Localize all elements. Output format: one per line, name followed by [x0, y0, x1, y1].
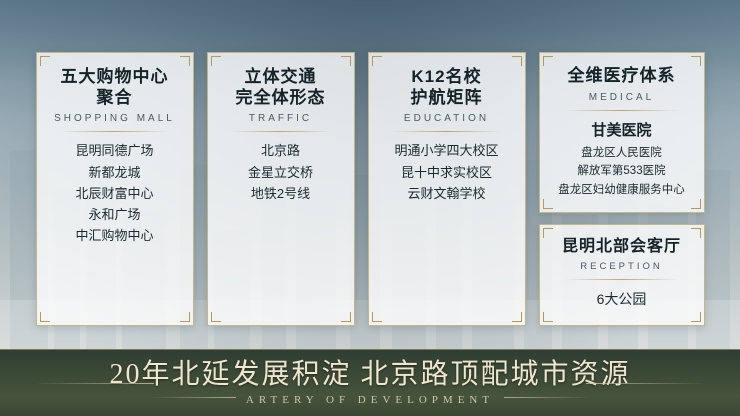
corner-ornament-icon: [543, 199, 553, 209]
list-item: 昆明同德广场: [45, 140, 185, 161]
card-reception[interactable]: 昆明北部会客厅 RECEPTION 6大公园: [539, 224, 705, 326]
list-item: 云财文翰学校: [377, 183, 517, 204]
list-item: 金星立交桥: [216, 162, 346, 183]
list-item: 地铁2号线: [216, 183, 346, 204]
card-item-list: 昆明同德广场 新都龙城 北辰财富中心 永和广场 中汇购物中心: [45, 140, 185, 245]
corner-ornament-icon: [40, 312, 50, 322]
card-title: 昆明北部会客厅: [548, 237, 696, 257]
poster-root: 五大购物中心 聚合 SHOPPING MALL 昆明同德广场 新都龙城 北辰财富…: [0, 0, 740, 416]
card-title: 五大购物中心 聚合: [45, 67, 185, 108]
list-item: 6大公园: [548, 288, 696, 311]
banner-rule-right: [586, 383, 706, 384]
corner-ornament-icon: [40, 56, 50, 66]
card-divider: [564, 279, 679, 280]
list-item: 中汇购物中心: [45, 225, 185, 246]
banner-title: 20年北延发展积淀 北京路顶配城市资源: [109, 360, 630, 389]
card-divider: [60, 131, 169, 132]
card-education[interactable]: K12名校 护航矩阵 EDUCATION 明通小学四大校区 昆十中求实校区 云财…: [368, 52, 526, 326]
list-item: 北京路: [216, 140, 346, 161]
card-divider: [564, 110, 679, 111]
corner-ornament-icon: [691, 228, 701, 238]
card-grid: 五大购物中心 聚合 SHOPPING MALL 昆明同德广场 新都龙城 北辰财富…: [0, 52, 740, 326]
card-divider: [392, 131, 501, 132]
card-divider: [230, 131, 331, 132]
corner-ornament-icon: [512, 312, 522, 322]
list-item: 新都龙城: [45, 162, 185, 183]
card-shopping-mall[interactable]: 五大购物中心 聚合 SHOPPING MALL 昆明同德广场 新都龙城 北辰财富…: [36, 52, 194, 326]
banner-rule-left: [34, 383, 154, 384]
card-subtitle: SHOPPING MALL: [45, 113, 185, 124]
list-item: 解放军第533医院: [548, 162, 696, 180]
list-item: 北辰财富中心: [45, 183, 185, 204]
card-subtitle: EDUCATION: [377, 113, 517, 124]
subtitle-rule-left: [150, 397, 236, 398]
card-item-list: 明通小学四大校区 昆十中求实校区 云财文翰学校: [377, 140, 517, 203]
card-title: 全维医疗体系: [548, 66, 696, 87]
subtitle-rule-right: [504, 397, 590, 398]
card-medical[interactable]: 全维医疗体系 MEDICAL 甘美医院 盘龙区人民医院 解放军第533医院 盘龙…: [539, 52, 705, 213]
corner-ornament-icon: [543, 56, 553, 66]
card-subtitle: RECEPTION: [548, 261, 696, 272]
corner-ornament-icon: [211, 56, 221, 66]
corner-ornament-icon: [543, 312, 553, 322]
corner-ornament-icon: [372, 56, 382, 66]
corner-ornament-icon: [341, 312, 351, 322]
corner-ornament-icon: [341, 56, 351, 66]
card-subtitle: TRAFFIC: [216, 113, 346, 124]
bottom-banner: 20年北延发展积淀 北京路顶配城市资源 ARTERY OF DEVELOPMEN…: [0, 349, 740, 416]
card-title: 立体交通 完全体形态: [216, 67, 346, 108]
corner-ornament-icon: [180, 56, 190, 66]
list-item: 永和广场: [45, 204, 185, 225]
corner-ornament-icon: [372, 312, 382, 322]
card-item-list: 北京路 金星立交桥 地铁2号线: [216, 140, 346, 203]
card-traffic[interactable]: 立体交通 完全体形态 TRAFFIC 北京路 金星立交桥 地铁2号线: [207, 52, 355, 326]
corner-ornament-icon: [691, 56, 701, 66]
corner-ornament-icon: [211, 312, 221, 322]
corner-ornament-icon: [691, 199, 701, 209]
banner-subtitle: ARTERY OF DEVELOPMENT: [246, 394, 494, 406]
card-item-list: 盘龙区人民医院 解放军第533医院 盘龙区妇幼健康服务中心: [548, 144, 696, 199]
card-column-right: 全维医疗体系 MEDICAL 甘美医院 盘龙区人民医院 解放军第533医院 盘龙…: [539, 52, 705, 326]
corner-ornament-icon: [180, 312, 190, 322]
card-highlight-item: 甘美医院: [548, 119, 696, 140]
card-item-list: 6大公园: [548, 288, 696, 311]
card-title: K12名校 护航矩阵: [377, 67, 517, 108]
list-item: 明通小学四大校区: [377, 140, 517, 161]
list-item: 盘龙区人民医院: [548, 144, 696, 162]
card-subtitle: MEDICAL: [548, 92, 696, 103]
banner-subtitle-row: ARTERY OF DEVELOPMENT: [150, 390, 590, 406]
corner-ornament-icon: [543, 228, 553, 238]
corner-ornament-icon: [512, 56, 522, 66]
list-item: 盘龙区妇幼健康服务中心: [548, 181, 696, 199]
corner-ornament-icon: [691, 312, 701, 322]
list-item: 昆十中求实校区: [377, 162, 517, 183]
